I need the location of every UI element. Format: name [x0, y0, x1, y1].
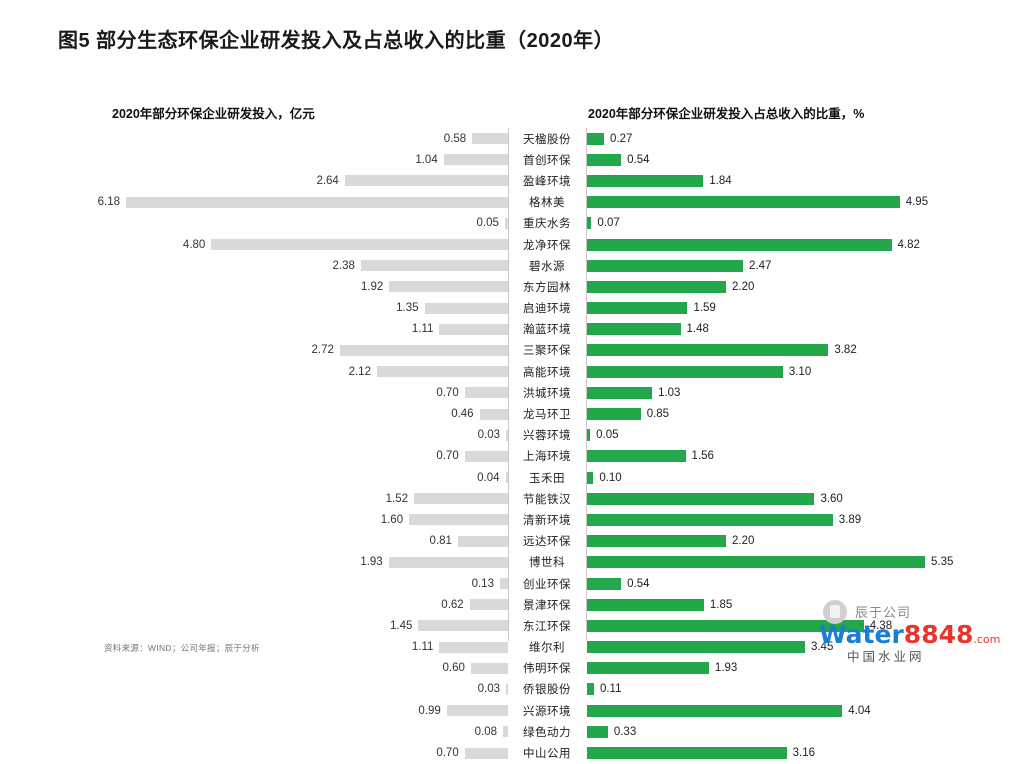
right-bar-value: 3.10 — [789, 366, 811, 378]
left-bar-cell: 0.03 — [0, 683, 508, 695]
left-bar-value: 1.35 — [396, 302, 418, 314]
right-bar-cell: 0.54 — [586, 578, 1023, 590]
left-bar-value: 0.03 — [478, 683, 500, 695]
left-bar-value: 0.46 — [451, 408, 473, 420]
right-bar — [587, 217, 591, 229]
category-label: 伟明环保 — [508, 660, 586, 676]
right-bar-value: 4.04 — [848, 705, 870, 717]
left-bar-cell: 0.70 — [0, 747, 508, 759]
right-bar-cell: 0.05 — [586, 429, 1023, 441]
right-bar-value: 3.89 — [839, 514, 861, 526]
left-bar-value: 1.52 — [386, 493, 408, 505]
left-bar-cell: 1.11 — [0, 323, 508, 335]
category-label: 格林美 — [508, 194, 586, 210]
left-bar-cell: 0.13 — [0, 578, 508, 590]
left-bar — [126, 197, 508, 208]
right-bar-cell: 1.59 — [586, 302, 1023, 314]
chart-row: 1.60清新环境3.89 — [0, 509, 1023, 530]
right-bar — [587, 323, 681, 335]
right-bar-cell: 0.07 — [586, 217, 1023, 229]
left-bar — [471, 663, 508, 674]
chart-row: 1.11瀚蓝环境1.48 — [0, 319, 1023, 340]
right-bar — [587, 196, 900, 208]
left-bar-cell: 4.80 — [0, 239, 508, 251]
right-bar — [587, 747, 787, 759]
left-bar-value: 0.58 — [444, 133, 466, 145]
left-series-label: 2020年部分环保企业研发投入，亿元 — [112, 103, 315, 122]
category-label: 兴蓉环境 — [508, 427, 586, 443]
right-bar-cell: 1.56 — [586, 450, 1023, 462]
chart-row: 1.92东方园林2.20 — [0, 276, 1023, 297]
chart-row: 1.93博世科5.35 — [0, 552, 1023, 573]
left-bar-value: 2.72 — [311, 344, 333, 356]
left-bar — [389, 281, 508, 292]
chart-row: 0.70上海环境1.56 — [0, 446, 1023, 467]
left-bar — [480, 409, 508, 420]
left-bar-value: 0.99 — [418, 705, 440, 717]
left-bar — [389, 557, 508, 568]
left-bar-value: 1.92 — [361, 281, 383, 293]
left-bar-cell: 1.04 — [0, 154, 508, 166]
category-label: 远达环保 — [508, 533, 586, 549]
right-bar-value: 2.20 — [732, 535, 754, 547]
right-bar-value: 1.93 — [715, 662, 737, 674]
left-bar-cell: 2.12 — [0, 366, 508, 378]
left-bar — [472, 133, 508, 144]
category-label: 侨银股份 — [508, 681, 586, 697]
right-bar-value: 1.85 — [710, 599, 732, 611]
left-bar-value: 2.12 — [349, 366, 371, 378]
chart-row: 0.13创业环保0.54 — [0, 573, 1023, 594]
left-bar-cell: 0.99 — [0, 705, 508, 717]
right-bar — [587, 154, 621, 166]
right-bar — [587, 599, 704, 611]
left-bar — [439, 642, 508, 653]
left-bar — [439, 324, 508, 335]
chart-row: 0.58天楹股份0.27 — [0, 128, 1023, 149]
watermark-word: Water — [819, 620, 904, 649]
chart-row: 2.64盈峰环境1.84 — [0, 170, 1023, 191]
right-bar-value: 1.48 — [687, 323, 709, 335]
right-bar-cell: 0.85 — [586, 408, 1023, 420]
right-bar-value: 0.85 — [647, 408, 669, 420]
left-bar-value: 0.62 — [441, 599, 463, 611]
left-bar-cell: 0.46 — [0, 408, 508, 420]
chart-row: 0.05重庆水务0.07 — [0, 213, 1023, 234]
right-bar — [587, 408, 641, 420]
right-bar — [587, 726, 608, 738]
category-label: 创业环保 — [508, 576, 586, 592]
left-bar-cell: 2.64 — [0, 175, 508, 187]
page-title: 图5 部分生态环保企业研发投入及占总收入的比重（2020年） — [58, 24, 614, 53]
chart-row: 2.12高能环境3.10 — [0, 361, 1023, 382]
right-bar-cell: 0.54 — [586, 154, 1023, 166]
right-bar — [587, 641, 805, 653]
right-bar-value: 2.47 — [749, 260, 771, 272]
right-bar-value: 0.05 — [596, 429, 618, 441]
category-label: 龙净环保 — [508, 237, 586, 253]
watermark-number: 8848 — [904, 620, 974, 649]
left-bar — [409, 514, 508, 525]
category-label: 兴源环境 — [508, 703, 586, 719]
category-label: 中山公用 — [508, 745, 586, 761]
right-bar — [587, 535, 726, 547]
watermark-subtitle: 中国水业网 — [847, 646, 925, 665]
right-bar — [587, 366, 783, 378]
left-bar — [377, 366, 508, 377]
right-bar-value: 3.60 — [820, 493, 842, 505]
left-bar — [465, 387, 508, 398]
watermark-main: Water8848.com — [819, 620, 1000, 649]
right-bar-value: 0.54 — [627, 154, 649, 166]
chart-row: 0.04玉禾田0.10 — [0, 467, 1023, 488]
left-bar-cell: 0.05 — [0, 217, 508, 229]
right-bar-cell: 0.11 — [586, 683, 1023, 695]
category-label: 首创环保 — [508, 152, 586, 168]
right-bar — [587, 175, 703, 187]
category-label: 维尔利 — [508, 639, 586, 655]
right-bar-value: 0.54 — [627, 578, 649, 590]
source-note: 资料来源：WIND；公司年报；辰于分析 — [104, 642, 260, 654]
category-label: 碧水源 — [508, 258, 586, 274]
right-bar-cell: 2.47 — [586, 260, 1023, 272]
left-bar — [425, 303, 508, 314]
left-bar-value: 2.38 — [333, 260, 355, 272]
category-label: 三聚环保 — [508, 342, 586, 358]
right-bar-cell: 1.84 — [586, 175, 1023, 187]
right-bar — [587, 578, 621, 590]
left-bar — [470, 599, 508, 610]
right-bar-value: 0.10 — [599, 472, 621, 484]
category-label: 节能铁汉 — [508, 491, 586, 507]
right-bar — [587, 472, 593, 484]
right-bar-cell: 3.82 — [586, 344, 1023, 356]
left-bar-value: 0.60 — [443, 662, 465, 674]
category-label: 博世科 — [508, 554, 586, 570]
right-bar-cell: 2.20 — [586, 535, 1023, 547]
right-bar-value: 0.27 — [610, 133, 632, 145]
right-bar — [587, 429, 590, 441]
left-bar-cell: 0.03 — [0, 429, 508, 441]
right-bar-cell: 3.16 — [586, 747, 1023, 759]
left-bar-value: 1.11 — [412, 641, 434, 653]
category-label: 清新环境 — [508, 512, 586, 528]
right-bar — [587, 281, 726, 293]
right-bar-value: 1.56 — [692, 450, 714, 462]
chart-row: 0.70中山公用3.16 — [0, 742, 1023, 763]
left-bar — [345, 175, 508, 186]
category-label: 玉禾田 — [508, 470, 586, 486]
right-bar-value: 1.03 — [658, 387, 680, 399]
bar-chart: 0.58天楹股份0.271.04首创环保0.542.64盈峰环境1.846.18… — [0, 128, 1023, 764]
right-bar — [587, 514, 833, 526]
left-bar-value: 1.45 — [390, 620, 412, 632]
left-bar-cell: 1.92 — [0, 281, 508, 293]
chart-row: 0.08绿色动力0.33 — [0, 721, 1023, 742]
left-bar — [444, 154, 508, 165]
left-bar-value: 1.04 — [415, 154, 437, 166]
category-label: 高能环境 — [508, 364, 586, 380]
left-bar-value: 0.70 — [436, 387, 458, 399]
chart-row: 1.52节能铁汉3.60 — [0, 488, 1023, 509]
right-bar-cell: 4.04 — [586, 705, 1023, 717]
left-bar — [465, 451, 508, 462]
chart-row: 2.72三聚环保3.82 — [0, 340, 1023, 361]
right-bar — [587, 705, 842, 717]
left-bar — [361, 260, 508, 271]
right-bar — [587, 133, 604, 145]
left-bar-value: 0.04 — [477, 472, 499, 484]
right-bar-value: 3.82 — [834, 344, 856, 356]
chart-row: 0.81远达环保2.20 — [0, 531, 1023, 552]
category-label: 天楹股份 — [508, 131, 586, 147]
category-label: 启迪环境 — [508, 300, 586, 316]
right-series-label: 2020年部分环保企业研发投入占总收入的比重，% — [588, 103, 864, 122]
right-bar-cell: 4.95 — [586, 196, 1023, 208]
right-bar-value: 1.59 — [693, 302, 715, 314]
right-bar-cell: 1.93 — [586, 662, 1023, 674]
right-bar-value: 2.20 — [732, 281, 754, 293]
left-bar-cell: 2.72 — [0, 344, 508, 356]
category-label: 盈峰环境 — [508, 173, 586, 189]
right-bar-value: 0.11 — [600, 683, 622, 695]
chart-row: 0.46龙马环卫0.85 — [0, 403, 1023, 424]
left-bar-cell: 1.60 — [0, 514, 508, 526]
left-bar-value: 0.70 — [436, 747, 458, 759]
left-bar-cell: 0.60 — [0, 662, 508, 674]
right-bar-cell: 5.35 — [586, 556, 1023, 568]
left-bar-cell: 6.18 — [0, 196, 508, 208]
left-bar-value: 0.05 — [477, 217, 499, 229]
right-bar — [587, 344, 828, 356]
right-bar-value: 3.16 — [793, 747, 815, 759]
right-bar-cell: 1.48 — [586, 323, 1023, 335]
left-bar-cell: 0.04 — [0, 472, 508, 484]
chart-row: 0.70洪城环境1.03 — [0, 382, 1023, 403]
right-bar — [587, 239, 892, 251]
left-bar — [465, 748, 508, 759]
right-bar — [587, 556, 925, 568]
category-label: 瀚蓝环境 — [508, 321, 586, 337]
right-bar-value: 1.84 — [709, 175, 731, 187]
left-bar-cell: 0.62 — [0, 599, 508, 611]
right-bar — [587, 260, 743, 272]
right-bar-value: 4.95 — [906, 196, 928, 208]
left-bar-value: 2.64 — [316, 175, 338, 187]
left-bar — [340, 345, 508, 356]
left-bar-value: 1.93 — [360, 556, 382, 568]
left-bar-cell: 0.08 — [0, 726, 508, 738]
chart-row: 0.03兴蓉环境0.05 — [0, 425, 1023, 446]
left-bar — [458, 536, 508, 547]
left-bar-value: 6.18 — [98, 196, 120, 208]
chart-row: 0.99兴源环境4.04 — [0, 700, 1023, 721]
right-bar — [587, 302, 687, 314]
right-bar-cell: 3.89 — [586, 514, 1023, 526]
left-bar-cell: 0.81 — [0, 535, 508, 547]
left-bar-value: 0.08 — [475, 726, 497, 738]
left-bar-cell: 1.93 — [0, 556, 508, 568]
right-bar — [587, 450, 686, 462]
left-bar-value: 0.03 — [478, 429, 500, 441]
watermark-top-text: 辰于公司 — [855, 602, 911, 621]
right-bar-cell: 0.27 — [586, 133, 1023, 145]
left-bar — [211, 239, 508, 250]
left-bar-cell: 0.70 — [0, 387, 508, 399]
right-bar — [587, 387, 652, 399]
watermark-domain-suffix: .com — [973, 633, 1000, 646]
right-bar — [587, 493, 814, 505]
right-bar-cell: 1.03 — [586, 387, 1023, 399]
right-bar-value: 0.07 — [597, 217, 619, 229]
left-bar — [447, 705, 508, 716]
left-bar-cell: 1.52 — [0, 493, 508, 505]
category-label: 上海环境 — [508, 448, 586, 464]
left-bar — [418, 620, 508, 631]
right-bar-cell: 2.20 — [586, 281, 1023, 293]
chart-row: 4.80龙净环保4.82 — [0, 234, 1023, 255]
right-bar-cell: 4.82 — [586, 239, 1023, 251]
right-bar-cell: 3.10 — [586, 366, 1023, 378]
chart-row: 1.04首创环保0.54 — [0, 149, 1023, 170]
left-bar — [414, 493, 508, 504]
right-bar-value: 0.33 — [614, 726, 636, 738]
left-bar-cell: 0.58 — [0, 133, 508, 145]
category-label: 龙马环卫 — [508, 406, 586, 422]
chart-row: 6.18格林美4.95 — [0, 192, 1023, 213]
left-bar-value: 0.81 — [430, 535, 452, 547]
chart-row: 1.35启迪环境1.59 — [0, 298, 1023, 319]
category-label: 东方园林 — [508, 279, 586, 295]
right-bar-value: 5.35 — [931, 556, 953, 568]
category-label: 重庆水务 — [508, 215, 586, 231]
right-bar-cell: 0.10 — [586, 472, 1023, 484]
left-bar-value: 1.60 — [381, 514, 403, 526]
watermark: 辰于公司 Water8848.com 中国水业网 — [819, 602, 1009, 660]
left-bar — [500, 578, 508, 589]
left-bar-value: 0.70 — [436, 450, 458, 462]
category-label: 东江环保 — [508, 618, 586, 634]
left-bar-cell: 0.70 — [0, 450, 508, 462]
left-bar-value: 1.11 — [412, 323, 434, 335]
left-bar-value: 0.13 — [472, 578, 494, 590]
left-bar-cell: 2.38 — [0, 260, 508, 272]
right-bar — [587, 683, 594, 695]
right-bar-value: 4.82 — [898, 239, 920, 251]
left-bar-value: 4.80 — [183, 239, 205, 251]
right-bar-cell: 3.60 — [586, 493, 1023, 505]
category-label: 洪城环境 — [508, 385, 586, 401]
category-label: 绿色动力 — [508, 724, 586, 740]
right-bar-cell: 0.33 — [586, 726, 1023, 738]
left-bar-cell: 1.45 — [0, 620, 508, 632]
left-bar-cell: 1.35 — [0, 302, 508, 314]
category-label: 景津环保 — [508, 597, 586, 613]
right-bar — [587, 662, 709, 674]
chart-row: 0.03侨银股份0.11 — [0, 679, 1023, 700]
chart-row: 2.38碧水源2.47 — [0, 255, 1023, 276]
